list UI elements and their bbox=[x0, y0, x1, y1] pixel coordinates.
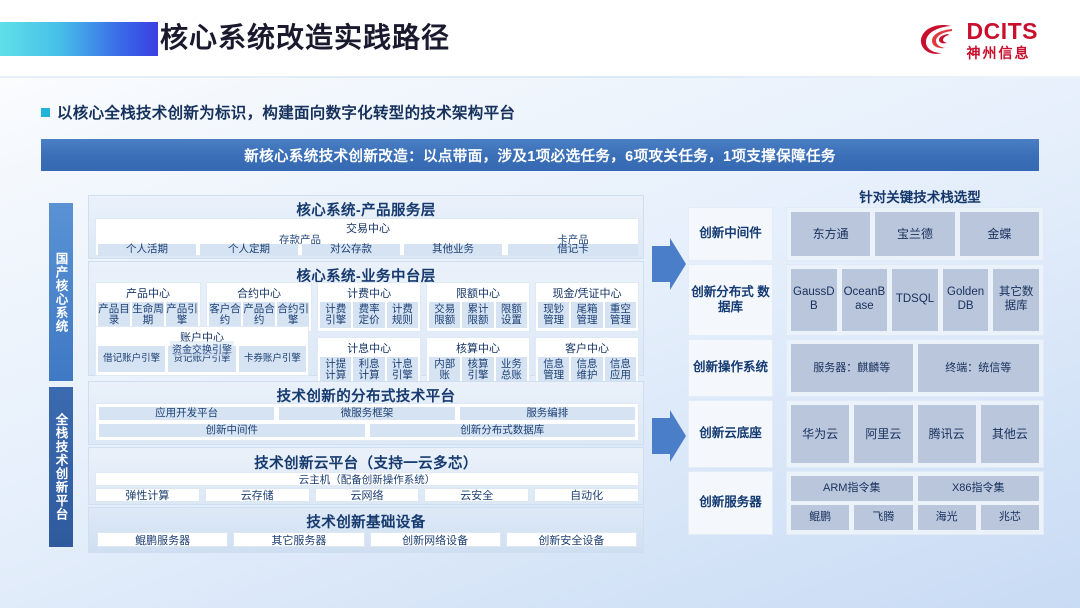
right-panel-title: 针对关键技术栈选型 bbox=[790, 186, 1050, 206]
vendor-tile[interactable]: 阿里云 bbox=[854, 405, 912, 463]
chip-item[interactable]: 应用开发平台 bbox=[99, 407, 274, 420]
chip-item[interactable]: 计费规则 bbox=[387, 302, 418, 328]
business-column: 现金/凭证中心 现钞管理 尾箱管理 重空管理 客户中心 信息管理 信息维护 信息… bbox=[535, 282, 639, 387]
header-divider bbox=[0, 76, 1080, 78]
chip-item[interactable]: 借记账户引擎 bbox=[98, 346, 165, 372]
center-cash-voucher: 现金/凭证中心 现钞管理 尾箱管理 重空管理 bbox=[535, 282, 639, 332]
logo-text-cn: 神州信息 bbox=[967, 46, 1039, 60]
side-tab-fullstack-platform: 全栈技术创新平台 bbox=[49, 387, 73, 547]
cloud-items: 弹性计算 云存储 云网络 云安全 自动化 bbox=[95, 488, 639, 502]
vendor-tile[interactable]: GaussDB bbox=[791, 269, 837, 331]
center-accounting: 核算中心 内部账 核算引擎 业务总账 bbox=[426, 337, 530, 387]
vendor-tile[interactable]: 鲲鹏 bbox=[791, 505, 849, 530]
chip-item[interactable]: 信息管理 bbox=[538, 357, 569, 383]
layer-title: 技术创新云平台（支持一云多芯） bbox=[89, 452, 643, 473]
center-customer: 客户中心 信息管理 信息维护 信息应用 bbox=[535, 337, 639, 387]
layer-infrastructure: 技术创新基础设备 鲲鹏服务器 其它服务器 创新网络设备 创新安全设备 bbox=[88, 507, 644, 553]
vendor-tile[interactable]: 其它数据库 bbox=[993, 269, 1039, 331]
category-innovative-distributed-db[interactable]: 创新分布式 数据库 bbox=[688, 264, 773, 336]
vendor-tile[interactable]: 终端：统信等 bbox=[918, 344, 1040, 392]
center-billing: 计费中心 计费引擎 费率定价 计费规则 bbox=[317, 282, 421, 332]
transaction-center-card: 交易中心 存款产品 卡产品 个人活期 个人定期 对公存款 其他业务 借记卡 bbox=[95, 218, 639, 256]
chip-item[interactable]: 微服务框架 bbox=[279, 407, 454, 420]
category-innovative-cloud-base[interactable]: 创新云底座 bbox=[688, 400, 773, 468]
page-title: 核心系统改造实践路径 bbox=[160, 18, 450, 58]
vendor-tile[interactable]: 飞腾 bbox=[854, 505, 912, 530]
vendor-tile[interactable]: OceanBase bbox=[842, 269, 888, 331]
chip-item[interactable]: 云安全 bbox=[424, 488, 529, 502]
distributed-card: 应用开发平台 微服务框架 服务编排 创新中间件 创新分布式数据库 bbox=[95, 403, 639, 441]
chip-item[interactable]: 创新安全设备 bbox=[506, 532, 637, 547]
chip-item-overlay[interactable]: 资金交换引擎 bbox=[170, 341, 234, 356]
vendor-tile[interactable]: 其他云 bbox=[981, 405, 1039, 463]
business-column: 计费中心 计费引擎 费率定价 计费规则 计息中心 计提计算 利息计算 计息引擎 bbox=[317, 282, 421, 387]
chip-item[interactable]: 个人活期 bbox=[98, 244, 196, 256]
highlight-banner: 新核心系统技术创新改造：以点带面，涉及1项必选任务，6项攻关任务，1项支撑保障任… bbox=[41, 139, 1039, 171]
chip-item[interactable]: 云网络 bbox=[315, 488, 420, 502]
chip-item[interactable]: 合约引擎 bbox=[277, 302, 309, 328]
chip-item[interactable]: 鲲鹏服务器 bbox=[97, 532, 228, 547]
vendor-tile[interactable]: 服务器：麒麟等 bbox=[791, 344, 913, 392]
chip-item[interactable]: 信息应用 bbox=[605, 357, 636, 383]
right-arrow-icon bbox=[652, 238, 686, 290]
chip-item[interactable]: 服务编排 bbox=[460, 407, 635, 420]
chip-item[interactable]: 自动化 bbox=[534, 488, 639, 502]
chip-item[interactable]: 计费引擎 bbox=[320, 302, 351, 328]
category-label: 创新中间件 bbox=[699, 226, 762, 241]
vendor-tile[interactable]: 宝兰德 bbox=[875, 212, 954, 256]
header-accent-bar bbox=[0, 22, 158, 56]
vendor-tile[interactable]: GoldenDB bbox=[943, 269, 989, 331]
layer-distributed-tech-platform: 技术创新的分布式技术平台 应用开发平台 微服务框架 服务编排 创新中间件 创新分… bbox=[88, 381, 644, 445]
chip-item[interactable]: 对公存款 bbox=[302, 244, 400, 256]
layer-title: 核心系统-产品服务层 bbox=[89, 199, 643, 220]
vendor-tile[interactable]: 兆芯 bbox=[981, 505, 1039, 530]
band-middleware: 东方通 宝兰德 金蝶 bbox=[786, 207, 1044, 261]
chip-item[interactable]: 借记卡 bbox=[508, 244, 638, 256]
chip-item[interactable]: 尾箱管理 bbox=[571, 302, 602, 328]
center-title: 限额中心 bbox=[429, 285, 527, 301]
center-title: 计费中心 bbox=[320, 285, 418, 301]
deposit-items: 个人活期 个人定期 对公存款 其他业务 bbox=[98, 244, 502, 256]
chip-item[interactable]: 重空管理 bbox=[605, 302, 636, 328]
chip-item[interactable]: 计提计算 bbox=[320, 357, 351, 383]
chip-item[interactable]: 累计限额 bbox=[462, 302, 493, 328]
banner-text: 新核心系统技术创新改造：以点带面，涉及1项必选任务，6项攻关任务，1项支撑保障任… bbox=[244, 145, 836, 166]
center-product: 产品中心 产品目录 生命周期 产品引擎 bbox=[95, 282, 201, 332]
chip-item[interactable]: 创新中间件 bbox=[99, 424, 365, 437]
tech-stack-selection-panel: 东方通 宝兰德 金蝶 GaussDB OceanBase TDSQL Golde… bbox=[786, 207, 1044, 538]
distributed-row-2: 创新中间件 创新分布式数据库 bbox=[99, 424, 635, 437]
brand-logo: DCITS 神州信息 bbox=[918, 18, 1039, 62]
chip-item[interactable]: 利息计算 bbox=[353, 357, 384, 383]
center-title: 客户中心 bbox=[538, 340, 636, 356]
center-interest: 计息中心 计提计算 利息计算 计息引擎 bbox=[317, 337, 421, 387]
chip-item[interactable]: 产品合约 bbox=[243, 302, 275, 328]
section-subtitle: 以核心全栈技术创新为标识，构建面向数字化转型的技术架构平台 bbox=[41, 101, 515, 123]
cloud-host-row[interactable]: 云主机（配备创新操作系统） bbox=[95, 472, 639, 486]
subtitle-text: 以核心全栈技术创新为标识，构建面向数字化转型的技术架构平台 bbox=[57, 101, 515, 123]
innovation-category-column: 创新中间件 创新分布式 数据库 创新操作系统 创新云底座 创新服务器 bbox=[688, 207, 773, 538]
band-cloud: 华为云 阿里云 腾讯云 其他云 bbox=[786, 400, 1044, 468]
side-tab-label: 全栈技术创新平台 bbox=[52, 413, 71, 521]
chip-item[interactable]: 费率定价 bbox=[353, 302, 384, 328]
chip-item[interactable]: 业务总账 bbox=[496, 357, 527, 383]
category-innovative-middleware[interactable]: 创新中间件 bbox=[688, 207, 773, 261]
chip-item[interactable]: 其他业务 bbox=[404, 244, 502, 256]
center-contract: 合约中心 客户合约 产品合约 合约引擎 bbox=[206, 282, 312, 332]
category-innovative-server[interactable]: 创新服务器 bbox=[688, 471, 773, 535]
chip-vendor-row: 鲲鹏 飞腾 海光 兆芯 bbox=[791, 505, 1039, 530]
vendor-tile[interactable]: ARM指令集 bbox=[791, 476, 913, 501]
chip-item[interactable]: 云存储 bbox=[205, 488, 310, 502]
side-tab-domestic-core: 国产核心系统 bbox=[49, 203, 73, 381]
category-label: 创新操作系统 bbox=[693, 360, 768, 375]
instruction-set-row: ARM指令集 X86指令集 bbox=[791, 476, 1039, 501]
chip-item[interactable]: 个人定期 bbox=[200, 244, 298, 256]
chip-item[interactable]: 计息引擎 bbox=[387, 357, 418, 383]
distributed-row-1: 应用开发平台 微服务框架 服务编排 bbox=[99, 407, 635, 420]
chip-item[interactable]: 客户合约 bbox=[209, 302, 241, 328]
chip-item[interactable]: 创新分布式数据库 bbox=[370, 424, 636, 437]
chip-item[interactable]: 生命周期 bbox=[132, 302, 164, 328]
layer-business-middle-platform: 核心系统-业务中台层 产品中心 产品目录 生命周期 产品引擎 合约中心 客户合约 bbox=[88, 261, 644, 376]
band-database: GaussDB OceanBase TDSQL GoldenDB 其它数据库 bbox=[786, 264, 1044, 336]
layer-title: 技术创新基础设备 bbox=[89, 511, 643, 532]
chip-item[interactable]: 限额设置 bbox=[496, 302, 527, 328]
vendor-tile[interactable]: 腾讯云 bbox=[918, 405, 976, 463]
chip-item[interactable]: 交易限额 bbox=[429, 302, 460, 328]
logo-text-en: DCITS bbox=[967, 20, 1039, 43]
center-limit: 限额中心 交易限额 累计限额 限额设置 bbox=[426, 282, 530, 332]
category-label: 创新分布式 数据库 bbox=[689, 285, 772, 316]
chip-item[interactable]: 其它服务器 bbox=[233, 532, 364, 547]
center-account: 账户中心 借记账户引擎 贷记账户引擎 卡券账户引擎 资金交换引擎 bbox=[95, 326, 309, 376]
chip-item[interactable]: 核算引擎 bbox=[462, 357, 493, 383]
center-title: 核算中心 bbox=[429, 340, 527, 356]
vendor-tile[interactable]: X86指令集 bbox=[918, 476, 1040, 501]
chip-item[interactable]: 现钞管理 bbox=[538, 302, 569, 328]
card-items: 借记卡 bbox=[508, 244, 638, 256]
category-label: 创新服务器 bbox=[699, 495, 762, 510]
vendor-tile[interactable]: 金蝶 bbox=[960, 212, 1039, 256]
vendor-tile[interactable]: 东方通 bbox=[791, 212, 870, 256]
category-innovative-os[interactable]: 创新操作系统 bbox=[688, 339, 773, 397]
chip-item[interactable]: 产品目录 bbox=[98, 302, 130, 328]
vendor-tile[interactable]: 海光 bbox=[918, 505, 976, 530]
chip-item[interactable]: 卡券账户引擎 bbox=[239, 346, 306, 372]
layer-product-service: 核心系统-产品服务层 交易中心 存款产品 卡产品 个人活期 个人定期 对公存款 … bbox=[88, 195, 644, 259]
category-label: 创新云底座 bbox=[699, 426, 762, 441]
chip-item[interactable]: 弹性计算 bbox=[95, 488, 200, 502]
dcits-swoosh-logo-icon bbox=[918, 20, 960, 60]
page-header: 核心系统改造实践路径 DCITS 神州信息 bbox=[0, 0, 1080, 76]
business-column: 限额中心 交易限额 累计限额 限额设置 核算中心 内部账 核算引擎 业务总账 bbox=[426, 282, 530, 387]
architecture-left-panel: 国产核心系统 全栈技术创新平台 核心系统-产品服务层 交易中心 存款产品 卡产品… bbox=[41, 195, 648, 555]
vendor-tile[interactable]: 华为云 bbox=[791, 405, 849, 463]
center-title: 现金/凭证中心 bbox=[538, 285, 636, 301]
center-title: 计息中心 bbox=[320, 340, 418, 356]
chip-item[interactable]: 产品引擎 bbox=[166, 302, 198, 328]
right-arrow-icon bbox=[652, 410, 686, 462]
chip-item[interactable]: 创新网络设备 bbox=[370, 532, 501, 547]
vendor-tile[interactable]: TDSQL bbox=[892, 269, 938, 331]
bullet-square-icon bbox=[41, 108, 50, 117]
side-tab-label: 国产核心系统 bbox=[52, 252, 71, 333]
center-title: 合约中心 bbox=[209, 285, 309, 301]
chip-item[interactable]: 信息维护 bbox=[571, 357, 602, 383]
chip-item[interactable]: 内部账 bbox=[429, 357, 460, 383]
layer-cloud-platform: 技术创新云平台（支持一云多芯） 云主机（配备创新操作系统） 弹性计算 云存储 云… bbox=[88, 447, 644, 505]
band-server: ARM指令集 X86指令集 鲲鹏 飞腾 海光 兆芯 bbox=[786, 471, 1044, 535]
band-operating-system: 服务器：麒麟等 终端：统信等 bbox=[786, 339, 1044, 397]
infra-items: 鲲鹏服务器 其它服务器 创新网络设备 创新安全设备 bbox=[97, 532, 637, 547]
center-title: 产品中心 bbox=[98, 285, 198, 301]
